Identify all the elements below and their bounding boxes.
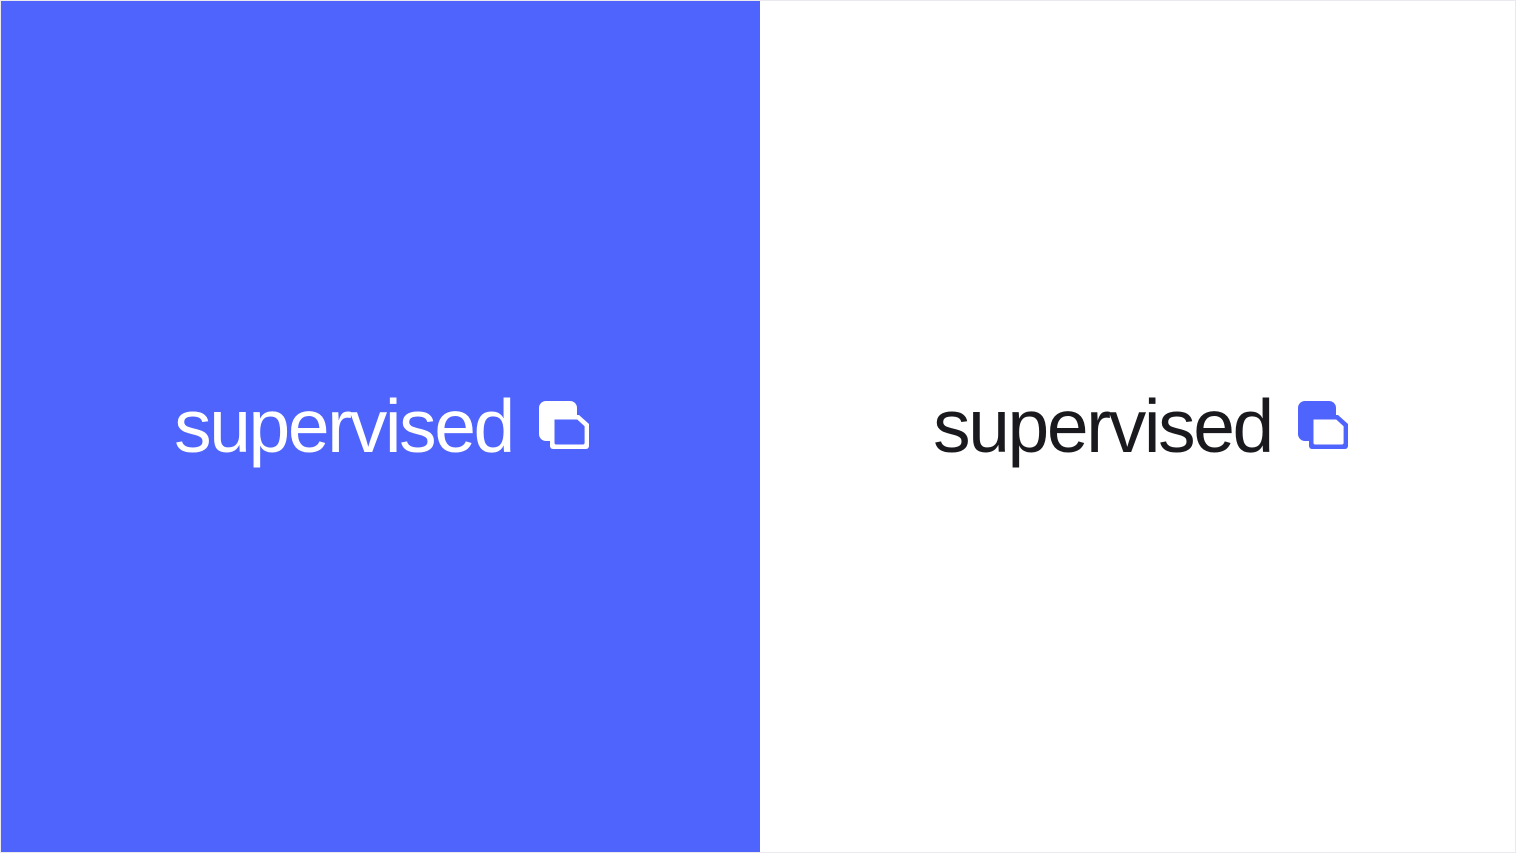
logo-showcase-canvas: supervised supervised [0,0,1516,853]
logo-lockup-dark: supervised [933,389,1348,464]
panel-blue-background: supervised [1,1,760,853]
overlapping-squares-mark-blue-icon [1298,401,1348,453]
overlapping-squares-mark-light-icon [539,401,589,453]
logo-lockup-light: supervised [174,389,589,464]
panel-white-background: supervised [760,1,1516,853]
wordmark-supervised-dark: supervised [933,389,1272,464]
wordmark-supervised-light: supervised [174,389,513,464]
